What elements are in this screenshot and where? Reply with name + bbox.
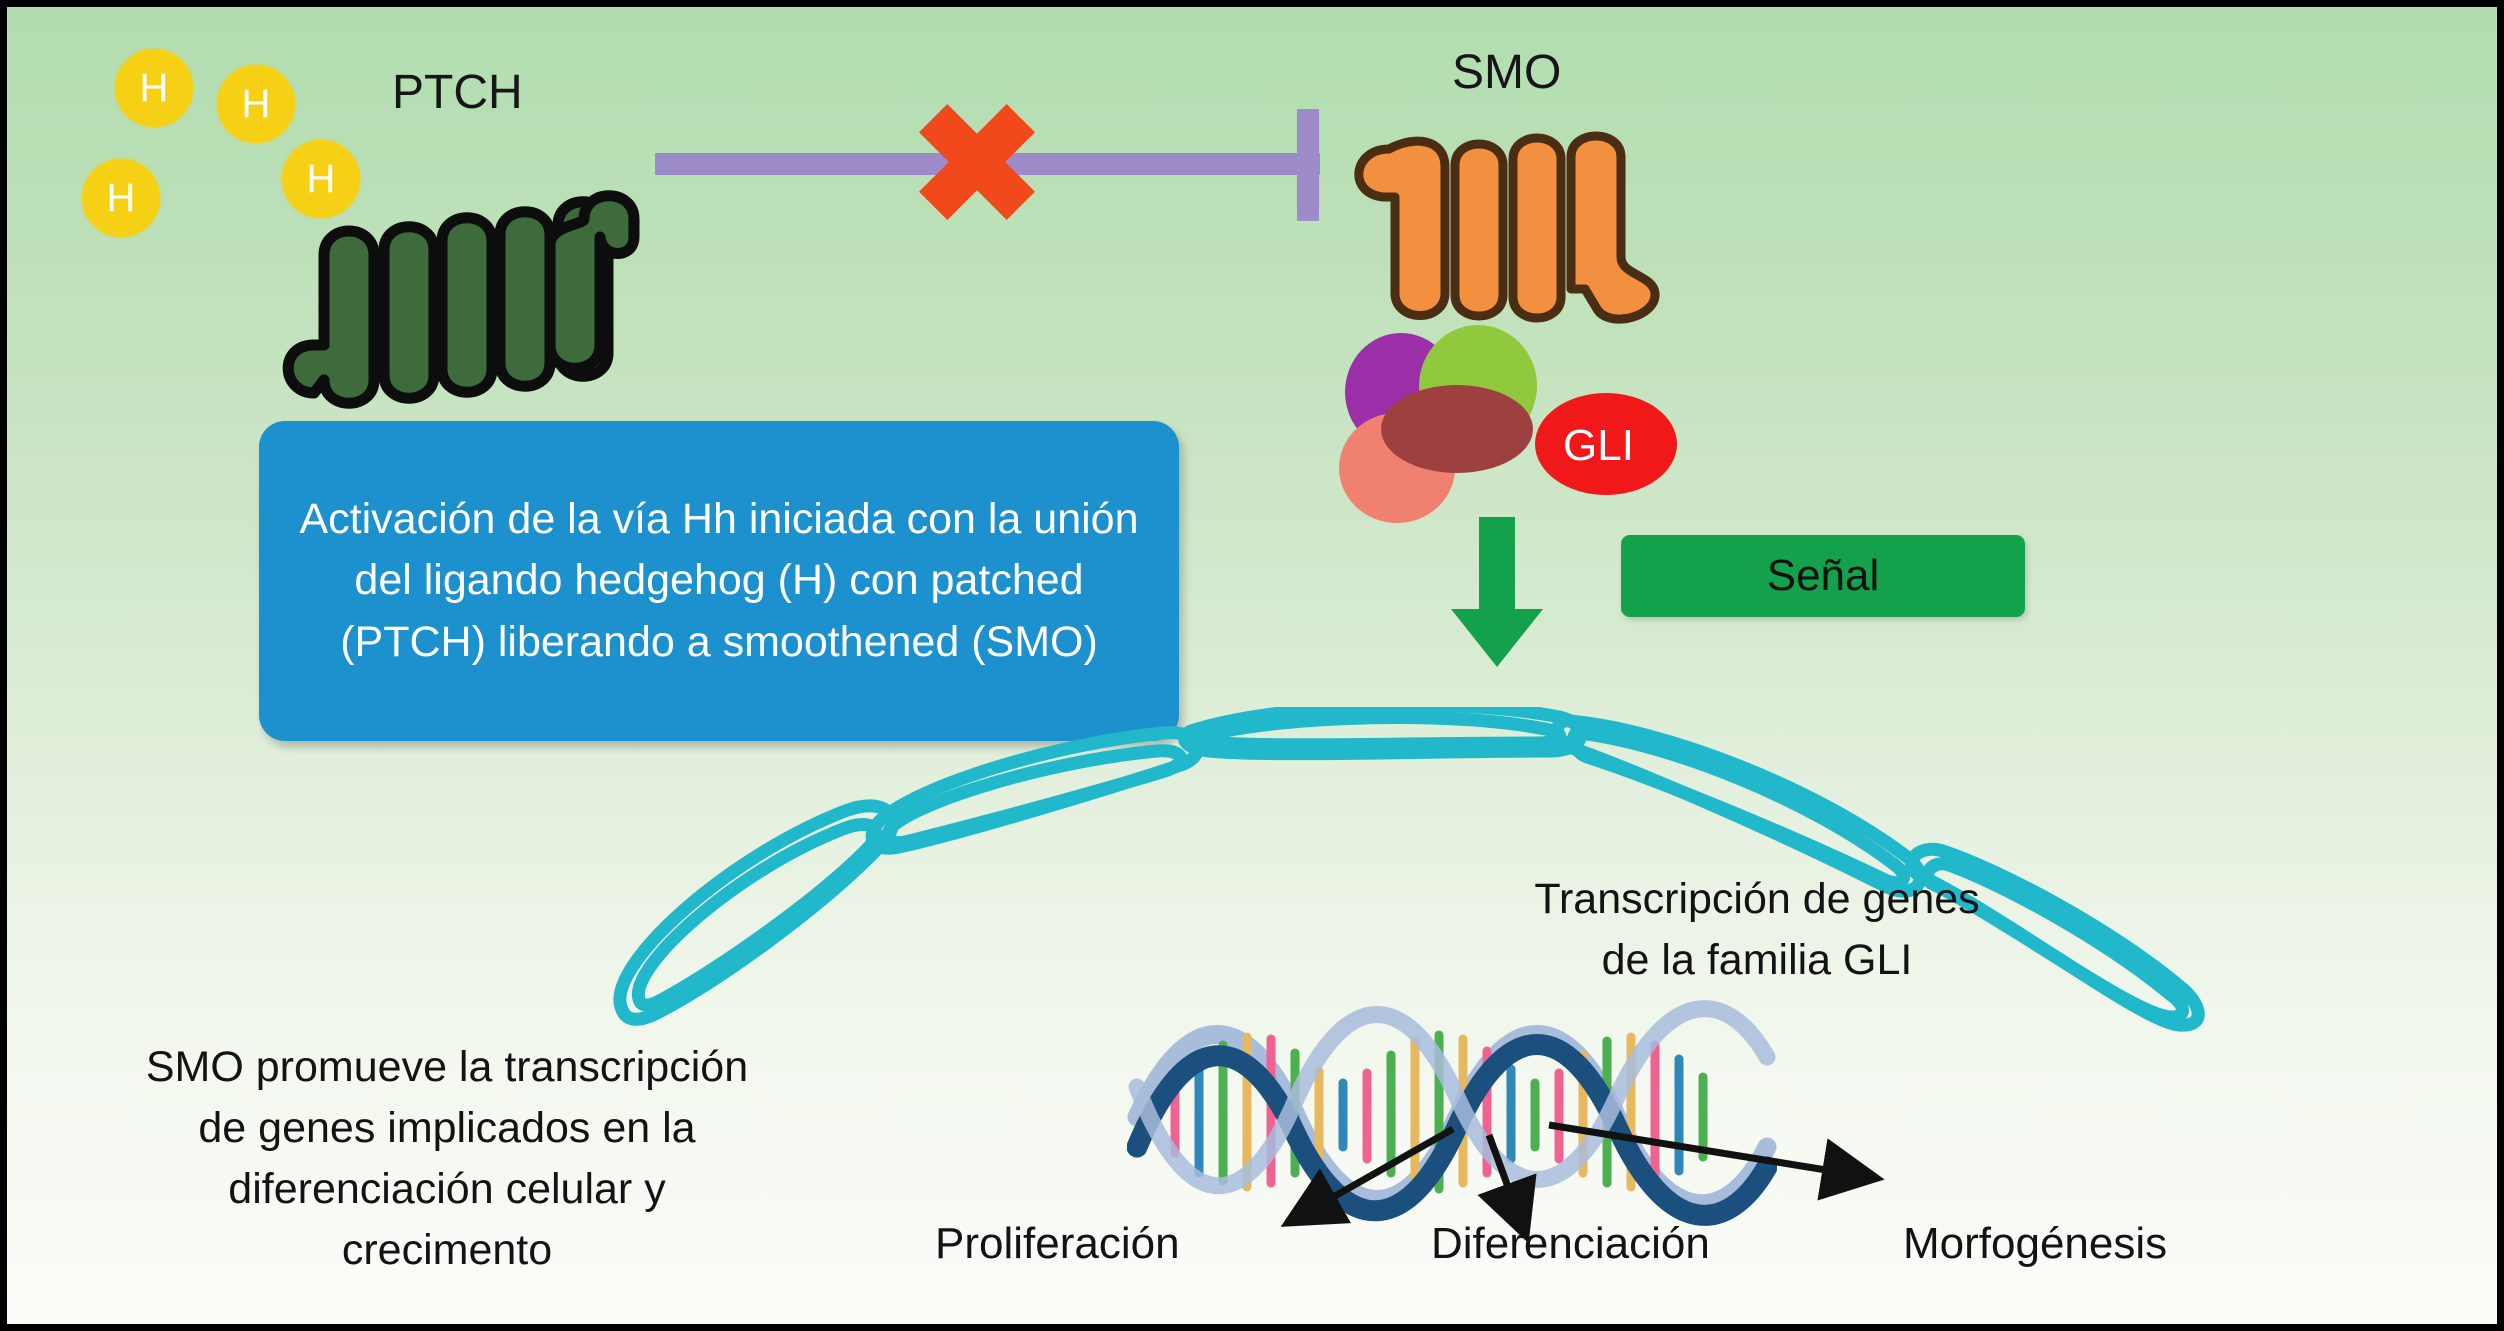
hedgehog-ligand-icon: H [115, 49, 193, 127]
signal-box: Señal [1621, 535, 2025, 617]
outcome-label-proliferacion: Proliferación [935, 1219, 1180, 1269]
ligand-label: H [242, 82, 271, 127]
pathway-info-box: Activación de la vía Hh iniciada con la … [259, 421, 1179, 741]
inhibition-arrow-tbar [1297, 109, 1319, 221]
ligand-label: H [140, 66, 169, 111]
signal-box-label: Señal [1767, 551, 1880, 601]
smo-label: SMO [1452, 45, 1561, 100]
outcome-label-morfogenesis: Morfogénesis [1903, 1219, 2167, 1269]
smo-promotes-caption: SMO promueve la transcripción de genes i… [77, 1037, 817, 1281]
hedgehog-ligand-icon: H [217, 65, 295, 143]
transcription-caption: Transcripción de genes de la familia GLI [1447, 869, 2067, 991]
outcome-label-diferenciacion: Diferenciación [1431, 1219, 1710, 1269]
smo-receptor-icon [1337, 125, 1667, 337]
maroon-subunit-icon [1381, 385, 1533, 473]
gli-label: GLI [1563, 421, 1634, 471]
ligand-label: H [107, 176, 136, 221]
ptch-label: PTCH [392, 65, 523, 120]
signal-arrow-icon [1447, 517, 1547, 669]
ptch-receptor-icon [262, 175, 652, 425]
pathway-info-text: Activación de la vía Hh iniciada con la … [285, 489, 1153, 672]
hedgehog-pathway-diagram: H H H H PTCH SMO [0, 0, 2504, 1331]
hedgehog-ligand-icon: H [82, 159, 160, 237]
blocked-x-icon [917, 102, 1037, 222]
